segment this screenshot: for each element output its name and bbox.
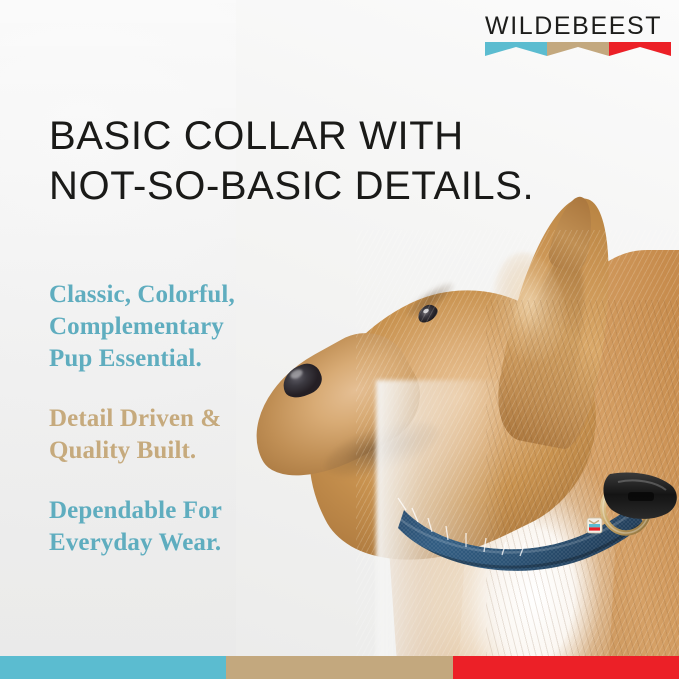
bottom-color-bar bbox=[0, 656, 679, 679]
collar-brand-tag bbox=[587, 518, 602, 533]
headline-line-2: NOT-SO-BASIC DETAILS. bbox=[49, 161, 609, 211]
feature-classic-line-1: Classic, Colorful, bbox=[49, 279, 349, 311]
collar-buckle bbox=[603, 473, 676, 519]
feature-dependable: Dependable For Everyday Wear. bbox=[49, 495, 349, 559]
feature-detail-line-1: Detail Driven & bbox=[49, 403, 349, 435]
feature-dependable-line-2: Everyday Wear. bbox=[49, 527, 349, 559]
bottom-bar-segment-tan bbox=[226, 656, 453, 679]
feature-classic: Classic, Colorful, Complementary Pup Ess… bbox=[49, 279, 349, 375]
feature-detail-line-2: Quality Built. bbox=[49, 435, 349, 467]
feature-dependable-line-1: Dependable For bbox=[49, 495, 349, 527]
bottom-bar-segment-red bbox=[453, 656, 679, 679]
feature-detail: Detail Driven & Quality Built. bbox=[49, 403, 349, 467]
product-banner: WILDEBEEST BASIC COLLAR WITH NOT-SO-BASI… bbox=[0, 0, 679, 679]
dog-collar bbox=[396, 466, 664, 562]
brand-wordmark: WILDEBEEST bbox=[485, 13, 671, 39]
feature-classic-line-3: Pup Essential. bbox=[49, 343, 349, 375]
page-title: BASIC COLLAR WITH NOT-SO-BASIC DETAILS. bbox=[49, 111, 609, 211]
brand-logo[interactable]: WILDEBEEST bbox=[485, 13, 671, 64]
feature-classic-line-2: Complementary bbox=[49, 311, 349, 343]
feature-list: Classic, Colorful, Complementary Pup Ess… bbox=[49, 279, 349, 559]
brand-chevron-bars bbox=[485, 42, 671, 64]
headline-line-1: BASIC COLLAR WITH bbox=[49, 111, 609, 161]
bottom-bar-segment-blue bbox=[0, 656, 226, 679]
